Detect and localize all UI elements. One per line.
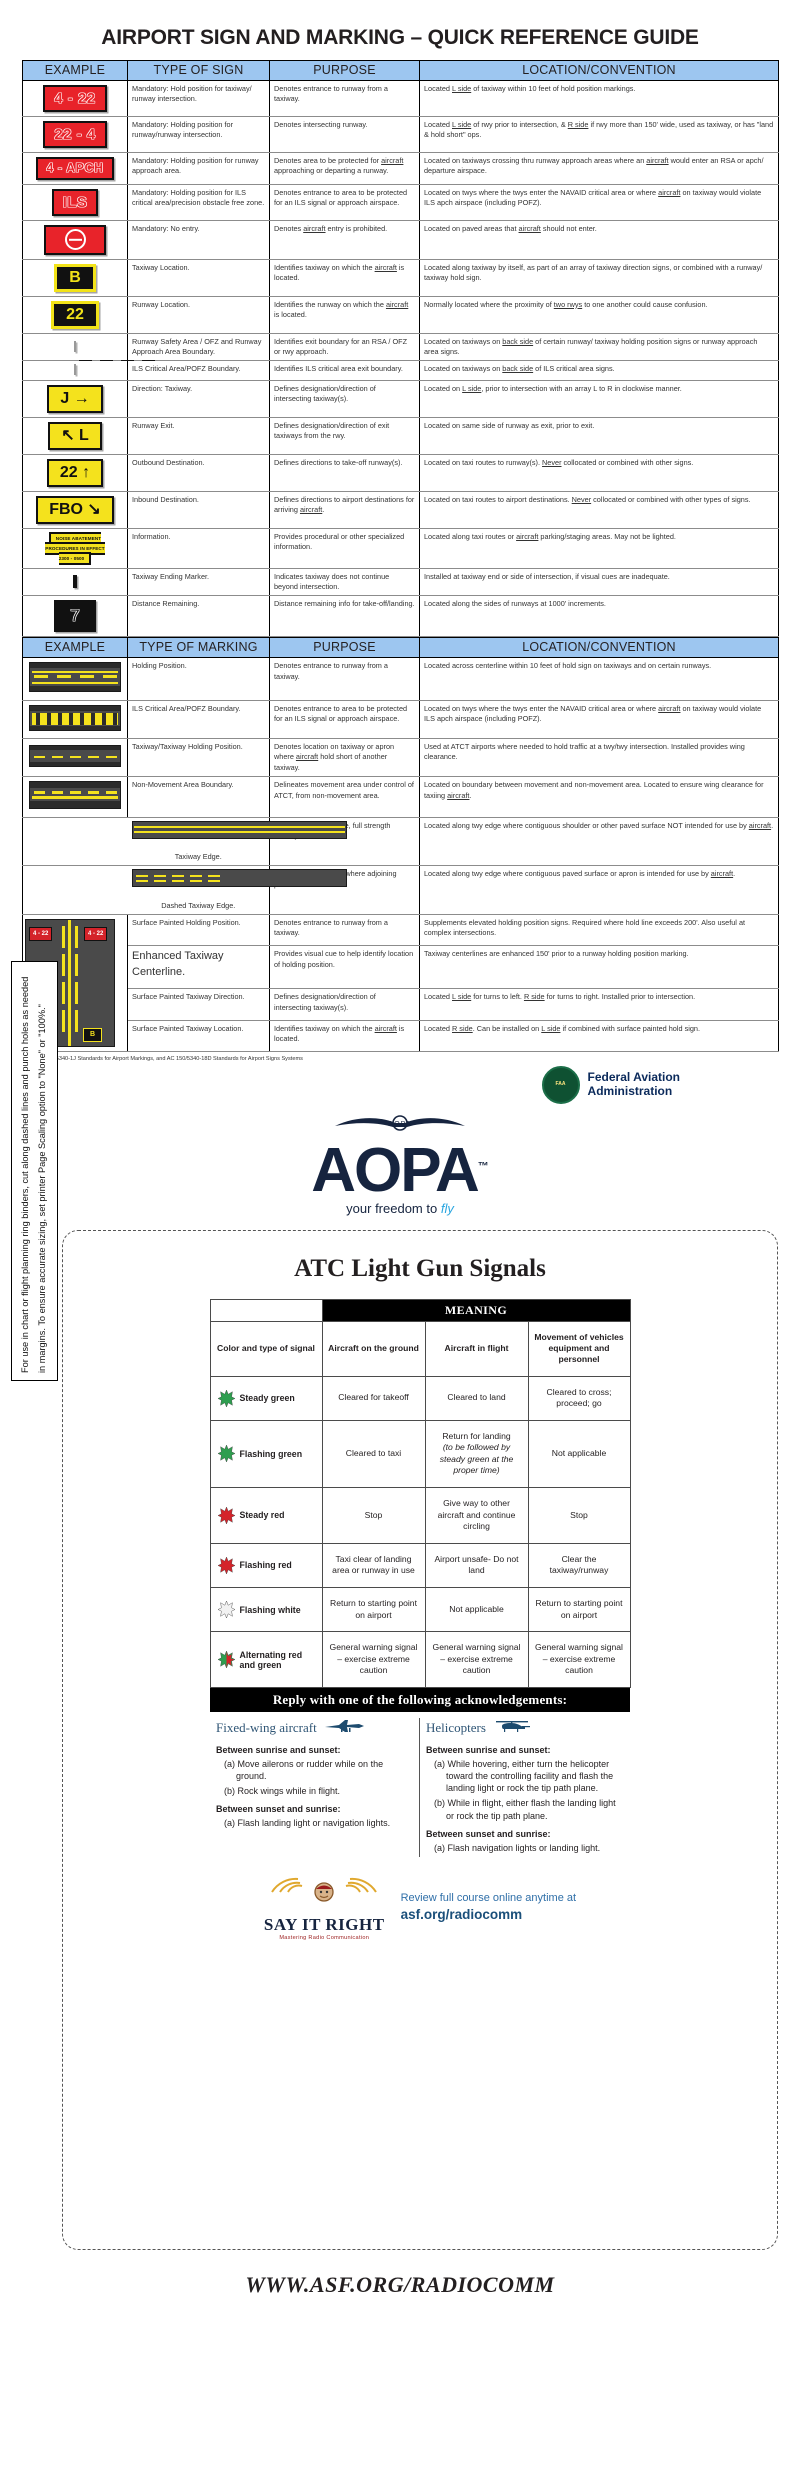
- sign-location-cell: Located L side of rwy prior to intersect…: [420, 117, 779, 153]
- sign-type-cell: Inbound Destination.: [128, 491, 270, 528]
- lgs-flight-cell: Not applicable: [425, 1588, 528, 1632]
- marking-type-cell: Taxiway/Taxiway Holding Position.: [128, 739, 270, 777]
- marking-type-cell: ILS Critical Area/POFZ Boundary.: [128, 700, 270, 738]
- heli-sub-1: Between sunrise and sunset:: [426, 1745, 624, 1755]
- marking-graphic-non-movement: [29, 781, 121, 809]
- sign-example-cell: 4 - 22: [23, 81, 128, 117]
- sign-location-cell: Located on taxi routes to runway(s). Nev…: [420, 454, 779, 491]
- page-title: AIRPORT SIGN AND MARKING – QUICK REFEREN…: [0, 0, 800, 60]
- sign-purpose-cell: Defines designation/direction of exit ta…: [270, 417, 420, 454]
- lgs-vehicles-cell: Return to starting point on airport: [528, 1588, 630, 1632]
- light-gun-row: Flashing redTaxi clear of landing area o…: [210, 1543, 630, 1587]
- lgs-signal-cell: Steady red: [210, 1488, 322, 1544]
- aopa-branding: AOPA AOPA™ your freedom to fly: [0, 1104, 800, 1216]
- sign-type-cell: Taxiway Ending Marker.: [128, 568, 270, 596]
- header-type-of-sign: TYPE OF SIGN: [128, 61, 270, 81]
- sign-type-cell: Runway Safety Area / OFZ and Runway Appr…: [128, 333, 270, 361]
- lgs-ground-cell: Cleared to taxi: [322, 1420, 425, 1487]
- header-example-marking: EXAMPLE: [23, 638, 128, 658]
- heli-item-1a: (a) While hovering, either turn the heli…: [434, 1758, 624, 1794]
- light-gun-row: Flashing whiteReturn to starting point o…: [210, 1588, 630, 1632]
- sign-example-cell: 4 - APCH: [23, 153, 128, 185]
- lgs-ground-cell: General warning signal – exercise extrem…: [322, 1632, 425, 1688]
- sign-example-cell: [23, 220, 128, 259]
- table-row: Surface Painted Taxiway Location.Identif…: [23, 1020, 779, 1051]
- table-row: J →Direction: Taxiway.Defines designatio…: [23, 380, 779, 417]
- table-row: Dashed Taxiway Edge.Defines taxiway edge…: [23, 866, 779, 915]
- marking-example-cell: [23, 777, 128, 817]
- printing-side-note: For use in chart or flight planning ring…: [11, 961, 58, 1381]
- lgs-column-header-row: Color and type of signal Aircraft on the…: [210, 1322, 630, 1377]
- sign-example-cell: [23, 333, 128, 361]
- sign-purpose-cell: Identifies taxiway on which the aircraft…: [270, 259, 420, 296]
- atc-section-title: ATC Light Gun Signals: [81, 1255, 759, 1283]
- table-row: 4 - 224 - 22↖ TBSurface Painted Holding …: [23, 914, 779, 945]
- header-location-convention: LOCATION/CONVENTION: [420, 61, 779, 81]
- marking-purpose-cell: Denotes entrance to runway from a taxiwa…: [270, 914, 420, 945]
- marking-example-cell: [23, 658, 128, 700]
- light-gun-row: Steady redStopGive way to other aircraft…: [210, 1488, 630, 1544]
- sign-purpose-cell: Denotes aircraft entry is prohibited.: [270, 220, 420, 259]
- marking-location-cell: Located R side. Can be installed on L si…: [420, 1020, 779, 1051]
- table-row: Non-Movement Area Boundary.Delineates mo…: [23, 777, 779, 817]
- sign-location-cell: Located on taxiways on back side of cert…: [420, 333, 779, 361]
- table-row: NOISE ABATEMENTPROCEDURES IN EFFECT2300 …: [23, 528, 779, 568]
- marking-table-header-row: EXAMPLE TYPE OF MARKING PURPOSE LOCATION…: [23, 638, 779, 658]
- radio-waves-icon: [264, 1875, 385, 1915]
- sign-purpose-cell: Denotes area to be protected for aircraf…: [270, 153, 420, 185]
- light-gun-row: Flashing greenCleared to taxiReturn for …: [210, 1420, 630, 1487]
- marking-type-cell: Dashed Taxiway Edge.: [128, 866, 270, 915]
- light-burst-icon: [218, 1507, 235, 1524]
- lgs-ground-cell: Return to starting point on airport: [322, 1588, 425, 1632]
- light-gun-row: Steady greenCleared for takeoffCleared t…: [210, 1376, 630, 1420]
- sign-graphic-ils-boundary: [74, 364, 76, 375]
- lgs-signal-label: Steady red: [240, 1510, 285, 1520]
- promo-link[interactable]: asf.org/radiocomm: [401, 1907, 523, 1922]
- sign-graphic-yellow: J →: [47, 385, 102, 413]
- marking-purpose-cell: Provides visual cue to help identify loc…: [270, 946, 420, 989]
- lgs-signal-label: Flashing red: [240, 1560, 292, 1570]
- sign-type-cell: ILS Critical Area/POFZ Boundary.: [128, 361, 270, 380]
- acknowledgements-bar: Reply with one of the following acknowle…: [210, 1688, 630, 1712]
- marking-location-cell: Located across centerline within 10 feet…: [420, 658, 779, 700]
- marking-purpose-cell: Identifies taxiway on which the aircraft…: [270, 1020, 420, 1051]
- helicopters-column: Helicopters Between sunrise and sunset:: [420, 1718, 630, 1857]
- marking-graphic-taxiway-edge: [132, 821, 347, 839]
- marking-example-cell: [23, 866, 128, 915]
- sign-example-cell: 22 ↑: [23, 454, 128, 491]
- sign-graphic-yellow: 22 ↑: [47, 459, 103, 487]
- fw-item-1a: (a) Move ailerons or rudder while on the…: [224, 1758, 413, 1782]
- lgs-meaning-row: MEANING: [210, 1300, 630, 1322]
- marking-table: EXAMPLE TYPE OF MARKING PURPOSE LOCATION…: [22, 637, 779, 1052]
- sign-graphic-taxiway-ending: [73, 575, 77, 588]
- lgs-signal-label: Alternating red and green: [240, 1650, 317, 1670]
- helicopters-heading-row: Helicopters: [426, 1718, 624, 1738]
- faa-branding: FAA Federal Aviation Administration: [0, 1062, 800, 1104]
- table-row: FBO ↘Inbound Destination.Defines directi…: [23, 491, 779, 528]
- fw-item-2a: (a) Flash landing light or navigation li…: [224, 1817, 413, 1829]
- lgs-flight-cell: General warning signal – exercise extrem…: [425, 1632, 528, 1688]
- sign-type-cell: Runway Exit.: [128, 417, 270, 454]
- sign-type-cell: Outbound Destination.: [128, 454, 270, 491]
- table-row: Mandatory: No entry.Denotes aircraft ent…: [23, 220, 779, 259]
- lgs-meaning-header: MEANING: [322, 1300, 630, 1322]
- faa-wordmark: Federal Aviation Administration: [588, 1071, 680, 1099]
- lgs-ground-cell: Cleared for takeoff: [322, 1376, 425, 1420]
- sign-example-cell: FBO ↘: [23, 491, 128, 528]
- sign-graphic-rsa-boundary: [74, 341, 76, 352]
- marking-type-cell: Surface Painted Taxiway Direction.: [128, 989, 270, 1020]
- marking-graphic-twy-twy-hold: [29, 745, 121, 767]
- marking-example-cell: [23, 700, 128, 738]
- lgs-signal-label: Flashing white: [240, 1605, 301, 1615]
- sign-location-cell: Located on same side of runway as exit, …: [420, 417, 779, 454]
- sign-graphic-red: 22 - 4: [43, 121, 106, 148]
- marking-example-cell: [23, 817, 128, 866]
- lgs-vehicles-cell: General warning signal – exercise extrem…: [528, 1632, 630, 1688]
- sign-type-cell: Distance Remaining.: [128, 596, 270, 637]
- table-row: Enhanced Taxiway Centerline.Provides vis…: [23, 946, 779, 989]
- sign-location-cell: Located along taxi routes or aircraft pa…: [420, 528, 779, 568]
- lgs-signal-cell: Steady green: [210, 1376, 322, 1420]
- sign-example-cell: [23, 568, 128, 596]
- sign-graphic-yellow: ↖ L: [48, 422, 102, 450]
- sign-purpose-cell: Denotes intersecting runway.: [270, 117, 420, 153]
- sign-location-cell: Located on L side, prior to intersection…: [420, 380, 779, 417]
- table-row: Taxiway Ending Marker.Indicates taxiway …: [23, 568, 779, 596]
- marking-type-cell: Enhanced Taxiway Centerline.: [128, 946, 270, 989]
- sign-graphic-yellow: FBO ↘: [36, 496, 114, 524]
- say-it-right-logo: SAY IT RIGHT Mastering Radio Communicati…: [264, 1875, 385, 1941]
- light-gun-signals-table: MEANING Color and type of signal Aircraf…: [210, 1299, 631, 1688]
- table-row: Runway Safety Area / OFZ and Runway Appr…: [23, 333, 779, 361]
- table-row: ↖ LRunway Exit.Defines designation/direc…: [23, 417, 779, 454]
- svg-text:AOPA: AOPA: [389, 1121, 412, 1128]
- sign-example-cell: 22: [23, 296, 128, 333]
- lgs-signal-label: Flashing green: [240, 1449, 303, 1459]
- lgs-vehicles-cell: Stop: [528, 1488, 630, 1544]
- header-purpose-marking: PURPOSE: [270, 638, 420, 658]
- sign-table: EXAMPLE TYPE OF SIGN PURPOSE LOCATION/CO…: [22, 60, 779, 637]
- sign-graphic-red: 4 - APCH: [36, 157, 113, 180]
- marking-graphic-holding-position: [29, 662, 121, 692]
- sign-example-cell: ↖ L: [23, 417, 128, 454]
- sign-type-cell: Mandatory: Holding position for runway a…: [128, 153, 270, 185]
- light-burst-icon: [218, 1557, 235, 1574]
- heli-item-2a: (a) Flash navigation lights or landing l…: [434, 1842, 624, 1854]
- aopa-wordmark: AOPA™: [311, 1142, 489, 1199]
- table-row: 22Runway Location.Identifies the runway …: [23, 296, 779, 333]
- table-row: ILS Critical Area/POFZ Boundary.Denotes …: [23, 700, 779, 738]
- table-row: ILS Critical Area/POFZ Boundary.Identifi…: [23, 361, 779, 380]
- lgs-col-signal: Color and type of signal: [210, 1322, 322, 1377]
- marking-location-cell: Supplements elevated holding position si…: [420, 914, 779, 945]
- sign-example-cell: NOISE ABATEMENTPROCEDURES IN EFFECT2300 …: [23, 528, 128, 568]
- marking-location-cell: Located along twy edge where contiguous …: [420, 817, 779, 866]
- table-row: 4 - APCHMandatory: Holding position for …: [23, 153, 779, 185]
- light-burst-icon: [218, 1651, 235, 1668]
- marking-example-cell: [23, 739, 128, 777]
- sign-purpose-cell: Distance remaining info for take-off/lan…: [270, 596, 420, 637]
- heli-item-1b: (b) While in flight, either flash the la…: [434, 1797, 624, 1821]
- header-location-marking: LOCATION/CONVENTION: [420, 638, 779, 658]
- lgs-col-ground: Aircraft on the ground: [322, 1322, 425, 1377]
- marking-graphic-dashed-taxiway-edge: [132, 869, 347, 887]
- table-row: Holding Position.Denotes entrance to run…: [23, 658, 779, 700]
- sign-location-cell: Located on paved areas that aircraft sho…: [420, 220, 779, 259]
- sign-location-cell: Located on taxiways crossing thru runway…: [420, 153, 779, 185]
- sign-example-cell: ILS: [23, 184, 128, 220]
- sign-location-cell: Located on taxiways on back side of ILS …: [420, 361, 779, 380]
- say-it-right-name: SAY IT RIGHT: [264, 1915, 385, 1935]
- sign-purpose-cell: Identifies ILS critical area exit bounda…: [270, 361, 420, 380]
- lgs-signal-cell: Flashing white: [210, 1588, 322, 1632]
- heli-sub-2: Between sunset and sunrise:: [426, 1829, 624, 1839]
- sign-type-cell: Taxiway Location.: [128, 259, 270, 296]
- sign-graphic-black: 22: [51, 301, 99, 329]
- sign-purpose-cell: Denotes entrance to area to be protected…: [270, 184, 420, 220]
- sign-type-cell: Mandatory: No entry.: [128, 220, 270, 259]
- fixed-wing-heading: Fixed-wing aircraft: [216, 1720, 317, 1736]
- marking-purpose-cell: Delineates movement area under control o…: [270, 777, 420, 817]
- lgs-flight-cell: Airport unsafe- Do not land: [425, 1543, 528, 1587]
- lgs-ground-cell: Stop: [322, 1488, 425, 1544]
- lgs-ground-cell: Taxi clear of landing area or runway in …: [322, 1543, 425, 1587]
- light-gun-row: Alternating red and greenGeneral warning…: [210, 1632, 630, 1688]
- sign-location-cell: Located L side of taxiway within 10 feet…: [420, 81, 779, 117]
- sign-location-cell: Installed at taxiway end or side of inte…: [420, 568, 779, 596]
- sign-purpose-cell: Identifies exit boundary for an RSA / OF…: [270, 333, 420, 361]
- faa-line-2: Administration: [588, 1085, 680, 1099]
- faa-seal-icon: FAA: [542, 1066, 580, 1104]
- light-burst-icon: [218, 1601, 235, 1618]
- lgs-flight-cell: Give way to other aircraft and continue …: [425, 1488, 528, 1544]
- light-burst-icon: [218, 1390, 235, 1407]
- lgs-signal-cell: Alternating red and green: [210, 1632, 322, 1688]
- sign-graphic-red: 4 - 22: [43, 85, 106, 112]
- table-row: Taxiway/Taxiway Holding Position.Denotes…: [23, 739, 779, 777]
- acknowledgements-columns: Fixed-wing aircraft Between sunrise and …: [210, 1718, 630, 1857]
- sign-example-cell: [23, 361, 128, 380]
- reference-tables: EXAMPLE TYPE OF SIGN PURPOSE LOCATION/CO…: [0, 60, 800, 1052]
- sign-table-header-row: EXAMPLE TYPE OF SIGN PURPOSE LOCATION/CO…: [23, 61, 779, 81]
- lgs-vehicles-cell: Clear the taxiway/runway: [528, 1543, 630, 1587]
- sign-purpose-cell: Defines directions to airport destinatio…: [270, 491, 420, 528]
- quick-reference-page: AIRPORT SIGN AND MARKING – QUICK REFEREN…: [0, 0, 800, 2320]
- header-example: EXAMPLE: [23, 61, 128, 81]
- aopa-wordmark-text: AOPA: [311, 1136, 478, 1205]
- marking-location-cell: Located on boundary between movement and…: [420, 777, 779, 817]
- helicopters-heading: Helicopters: [426, 1720, 486, 1736]
- marking-location-cell: Used at ATCT airports where needed to ho…: [420, 739, 779, 777]
- marking-type-cell: Holding Position.: [128, 658, 270, 700]
- sign-type-cell: Direction: Taxiway.: [128, 380, 270, 417]
- marking-location-cell: Taxiway centerlines are enhanced 150' pr…: [420, 946, 779, 989]
- lgs-signal-label: Steady green: [240, 1393, 295, 1403]
- lgs-col-flight: Aircraft in flight: [425, 1322, 528, 1377]
- faa-line-1: Federal Aviation: [588, 1071, 680, 1085]
- sign-type-cell: Mandatory: Holding position for runway/r…: [128, 117, 270, 153]
- marking-type-cell: Surface Painted Taxiway Location.: [128, 1020, 270, 1051]
- marking-type-cell: Non-Movement Area Boundary.: [128, 777, 270, 817]
- sign-location-cell: Located along the sides of runways at 10…: [420, 596, 779, 637]
- table-row: 22 - 4Mandatory: Holding position for ru…: [23, 117, 779, 153]
- sign-location-cell: Located along taxiway by itself, as part…: [420, 259, 779, 296]
- source-credit: Ref. AC 150/5340-1J Standards for Airpor…: [0, 1052, 800, 1062]
- marking-location-cell: Located on twys where the twys enter the…: [420, 700, 779, 738]
- marking-purpose-cell: Denotes location on taxiway or apron whe…: [270, 739, 420, 777]
- fw-sub-2: Between sunset and sunrise:: [216, 1804, 413, 1814]
- lgs-corner-blank: [210, 1300, 322, 1322]
- table-row: ILSMandatory: Holding position for ILS c…: [23, 184, 779, 220]
- sign-location-cell: Normally located where the proximity of …: [420, 296, 779, 333]
- sign-graphic-red: ILS: [52, 189, 99, 216]
- lgs-vehicles-cell: Not applicable: [528, 1420, 630, 1487]
- table-row: 4 - 22Mandatory: Hold position for taxiw…: [23, 81, 779, 117]
- sign-example-cell: J →: [23, 380, 128, 417]
- course-promo-text: Review full course online anytime at asf…: [401, 1891, 576, 1925]
- fw-item-1b: (b) Rock wings while in flight.: [224, 1785, 413, 1797]
- sign-type-cell: Mandatory: Holding position for ILS crit…: [128, 184, 270, 220]
- sign-graphic-no-entry: [44, 225, 106, 255]
- sign-location-cell: Located on taxi routes to airport destin…: [420, 491, 779, 528]
- table-row: BTaxiway Location.Identifies taxiway on …: [23, 259, 779, 296]
- marking-location-cell: Located along twy edge where contiguous …: [420, 866, 779, 915]
- bottom-url: WWW.ASF.ORG/RADIOCOMM: [0, 2250, 800, 2320]
- sign-example-cell: 22 - 4: [23, 117, 128, 153]
- sign-example-cell: B: [23, 259, 128, 296]
- sign-purpose-cell: Identifies the runway on which the aircr…: [270, 296, 420, 333]
- marking-type-cell: Surface Painted Holding Position.: [128, 914, 270, 945]
- marking-purpose-cell: Denotes entrance to area to be protected…: [270, 700, 420, 738]
- cut-along-dashed-panel: For use in chart or flight planning ring…: [62, 1230, 778, 2250]
- light-burst-icon: [218, 1445, 235, 1462]
- sign-graphic-distance-remaining: 7: [54, 600, 96, 632]
- marking-graphic-ils-critical: [29, 705, 121, 731]
- table-row: 22 ↑Outbound Destination.Defines directi…: [23, 454, 779, 491]
- sign-type-cell: Mandatory: Hold position for taxiway/ ru…: [128, 81, 270, 117]
- table-row: Surface Painted Taxiway Direction.Define…: [23, 989, 779, 1020]
- sign-purpose-cell: Denotes entrance to runway from a taxiwa…: [270, 81, 420, 117]
- promo-line-1: Review full course online anytime at: [401, 1891, 576, 1906]
- sign-example-cell: 7: [23, 596, 128, 637]
- table-row: 7Distance Remaining.Distance remaining i…: [23, 596, 779, 637]
- sign-purpose-cell: Provides procedural or other specialized…: [270, 528, 420, 568]
- sign-type-cell: Information.: [128, 528, 270, 568]
- aopa-trademark: ™: [478, 1160, 489, 1172]
- marking-location-cell: Located L side for turns to left. R side…: [420, 989, 779, 1020]
- lgs-signal-cell: Flashing red: [210, 1543, 322, 1587]
- header-type-of-marking: TYPE OF MARKING: [128, 638, 270, 658]
- table-row: Taxiway Edge.Defines edge of usable, ful…: [23, 817, 779, 866]
- sign-graphic-information: NOISE ABATEMENTPROCEDURES IN EFFECT2300 …: [45, 532, 104, 566]
- say-it-right-subtitle: Mastering Radio Communication: [264, 1935, 385, 1941]
- lgs-signal-cell: Flashing green: [210, 1420, 322, 1487]
- marking-purpose-cell: Denotes entrance to runway from a taxiwa…: [270, 658, 420, 700]
- airplane-icon: [323, 1718, 367, 1738]
- lgs-flight-cell: Return for landing(to be followed by ste…: [425, 1420, 528, 1487]
- sign-location-cell: Located on twys where the twys enter the…: [420, 184, 779, 220]
- lgs-flight-cell: Cleared to land: [425, 1376, 528, 1420]
- lgs-vehicles-cell: Cleared to cross; proceed; go: [528, 1376, 630, 1420]
- footer-promotion: SAY IT RIGHT Mastering Radio Communicati…: [81, 1875, 759, 1941]
- sign-purpose-cell: Indicates taxiway does not continue beyo…: [270, 568, 420, 596]
- helicopter-icon: [492, 1718, 532, 1738]
- fixed-wing-column: Fixed-wing aircraft Between sunrise and …: [210, 1718, 420, 1857]
- marking-purpose-cell: Defines designation/direction of interse…: [270, 989, 420, 1020]
- sign-purpose-cell: Defines designation/direction of interse…: [270, 380, 420, 417]
- fw-sub-1: Between sunrise and sunset:: [216, 1745, 413, 1755]
- header-purpose: PURPOSE: [270, 61, 420, 81]
- sign-purpose-cell: Defines directions to take-off runway(s)…: [270, 454, 420, 491]
- fixed-wing-heading-row: Fixed-wing aircraft: [216, 1718, 413, 1738]
- lgs-col-vehicles: Movement of vehicles equipment and perso…: [528, 1322, 630, 1377]
- marking-type-cell: Taxiway Edge.: [128, 817, 270, 866]
- sign-type-cell: Runway Location.: [128, 296, 270, 333]
- sign-graphic-black: B: [54, 264, 96, 292]
